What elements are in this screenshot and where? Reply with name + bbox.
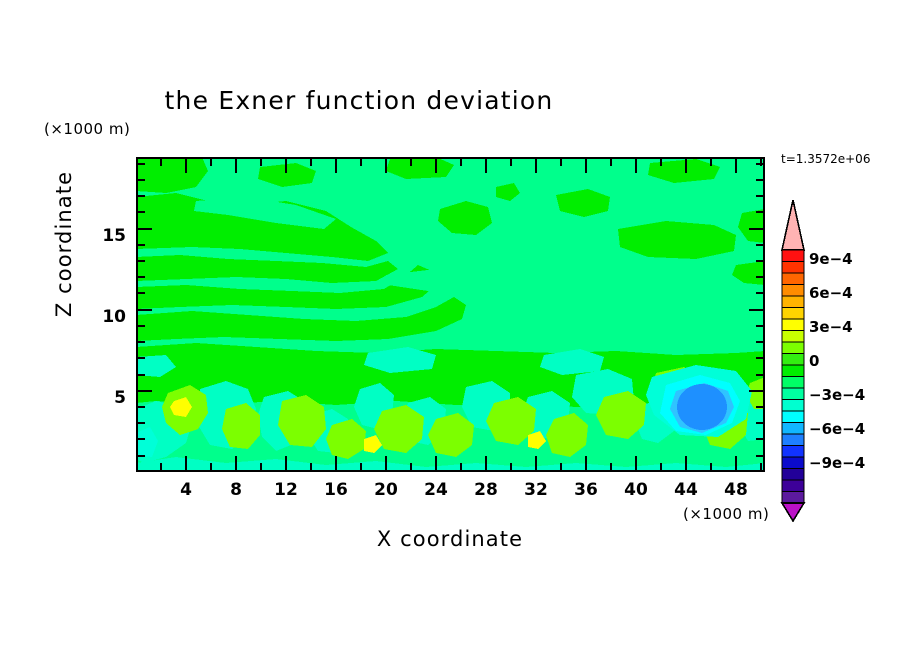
colorbar-bands [782,250,804,503]
colorbar-tick-label: 3e−4 [809,318,853,336]
x-tick-label: 16 [316,480,356,500]
x-tick-label: 32 [516,480,556,500]
y-axis-unit-label: (×1000 m) [44,120,130,138]
x-tick-label: 8 [216,480,256,500]
x-tick-label: 4 [166,480,206,500]
x-tick-label: 36 [566,480,606,500]
time-stamp-label: t=1.3572e+06 [781,152,870,166]
x-axis-title-text: X coordinate [377,527,523,551]
colorbar-tick-label: −9e−4 [809,454,865,472]
figure-canvas: the Exner function deviation (×1000 m) (… [0,0,904,654]
chart-title: the Exner function deviation [0,86,904,115]
colorbar-tick-label: −6e−4 [809,420,865,438]
y-tick-label: 15 [0,226,126,246]
plot-area [136,157,765,472]
colorbar-tick-label: 9e−4 [809,250,853,268]
x-tick-label: 40 [616,480,656,500]
colorbar-over-arrow [782,200,804,250]
chart-title-text: the Exner function deviation [165,86,554,115]
x-tick-label: 20 [366,480,406,500]
y-tick-label: 5 [0,388,126,408]
x-tick-label: 28 [466,480,506,500]
x-tick-label: 12 [266,480,306,500]
x-tick-label: 44 [666,480,706,500]
y-tick-label: 10 [0,307,126,327]
x-axis-title: X coordinate [0,527,904,551]
x-tick-label: 48 [716,480,756,500]
axis-ticks [136,157,765,472]
colorbar-tick-label: 0 [809,352,819,370]
colorbar-tick-label: 6e−4 [809,284,853,302]
colorbar-under-arrow [782,503,804,521]
x-axis-unit-label: (×1000 m) [683,505,769,523]
colorbar-tick-label: −3e−4 [809,386,865,404]
x-tick-label: 24 [416,480,456,500]
